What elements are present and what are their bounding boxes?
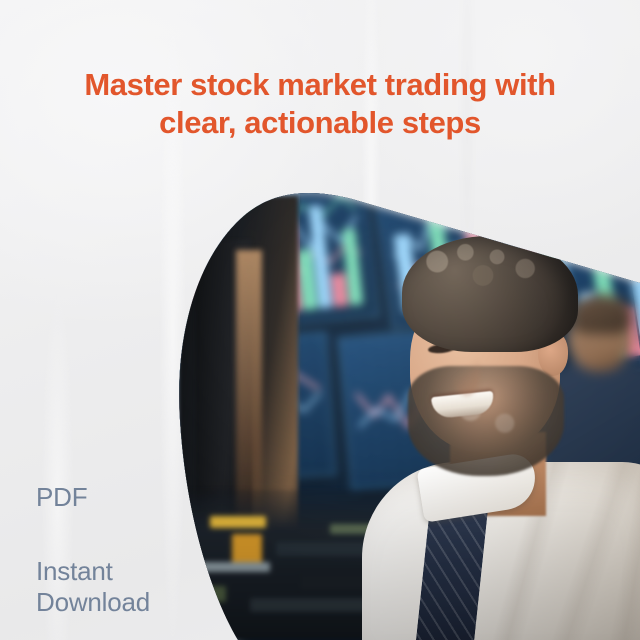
format-label: PDF [36, 482, 150, 513]
trader-beard [408, 366, 564, 476]
delivery-label-line-2: Download [36, 587, 150, 618]
promo-canvas: Master stock market trading with clear, … [0, 0, 640, 640]
page-title: Master stock market trading with clear, … [0, 66, 640, 142]
trader-subject [370, 236, 640, 640]
trader-nose [452, 352, 480, 396]
delivery-label-line-1: Instant [36, 556, 150, 587]
headline-line-2: clear, actionable steps [26, 104, 614, 142]
delivery-label: Instant Download [36, 556, 150, 618]
product-meta: PDF Instant Download [36, 482, 150, 618]
headline-line-1: Master stock market trading with [26, 66, 614, 104]
